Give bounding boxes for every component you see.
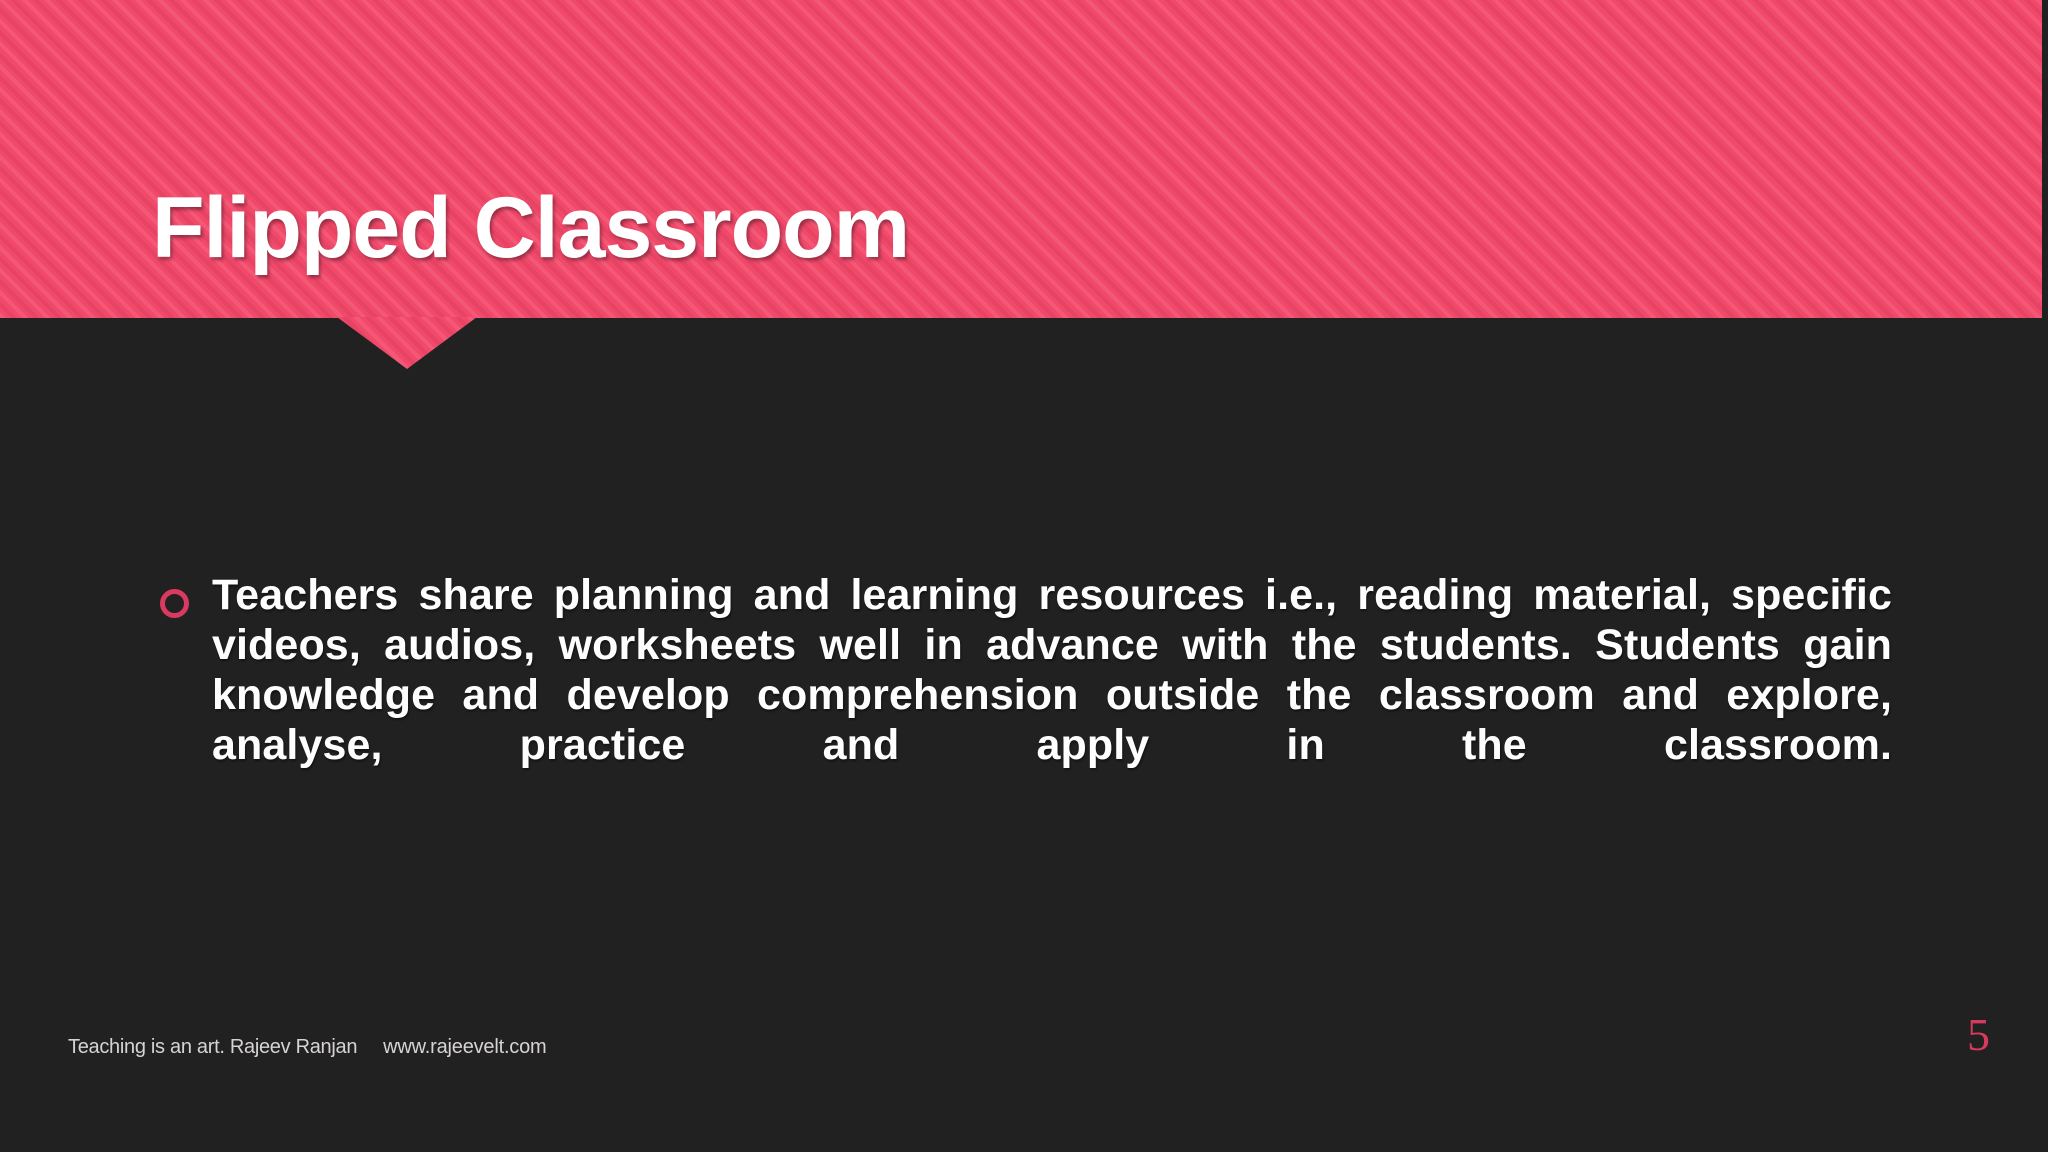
banner-notch-triangle xyxy=(337,317,477,369)
presentation-slide: Flipped Classroom Teachers share plannin… xyxy=(0,0,2048,1152)
bullet-text: Teachers share planning and learning res… xyxy=(212,571,1892,820)
slide-footer: Teaching is an art. Rajeev Ranjan www.ra… xyxy=(68,1036,547,1059)
footer-author-note: Teaching is an art. Rajeev Ranjan xyxy=(68,1036,357,1059)
list-item: Teachers share planning and learning res… xyxy=(160,571,1892,820)
page-title: Flipped Classroom xyxy=(152,185,909,273)
slide-body: Teachers share planning and learning res… xyxy=(160,528,1892,863)
slide-page-number: 5 xyxy=(1967,1012,1990,1058)
ring-bullet-icon xyxy=(160,589,189,618)
footer-website-link[interactable]: www.rajeevelt.com xyxy=(383,1036,546,1059)
